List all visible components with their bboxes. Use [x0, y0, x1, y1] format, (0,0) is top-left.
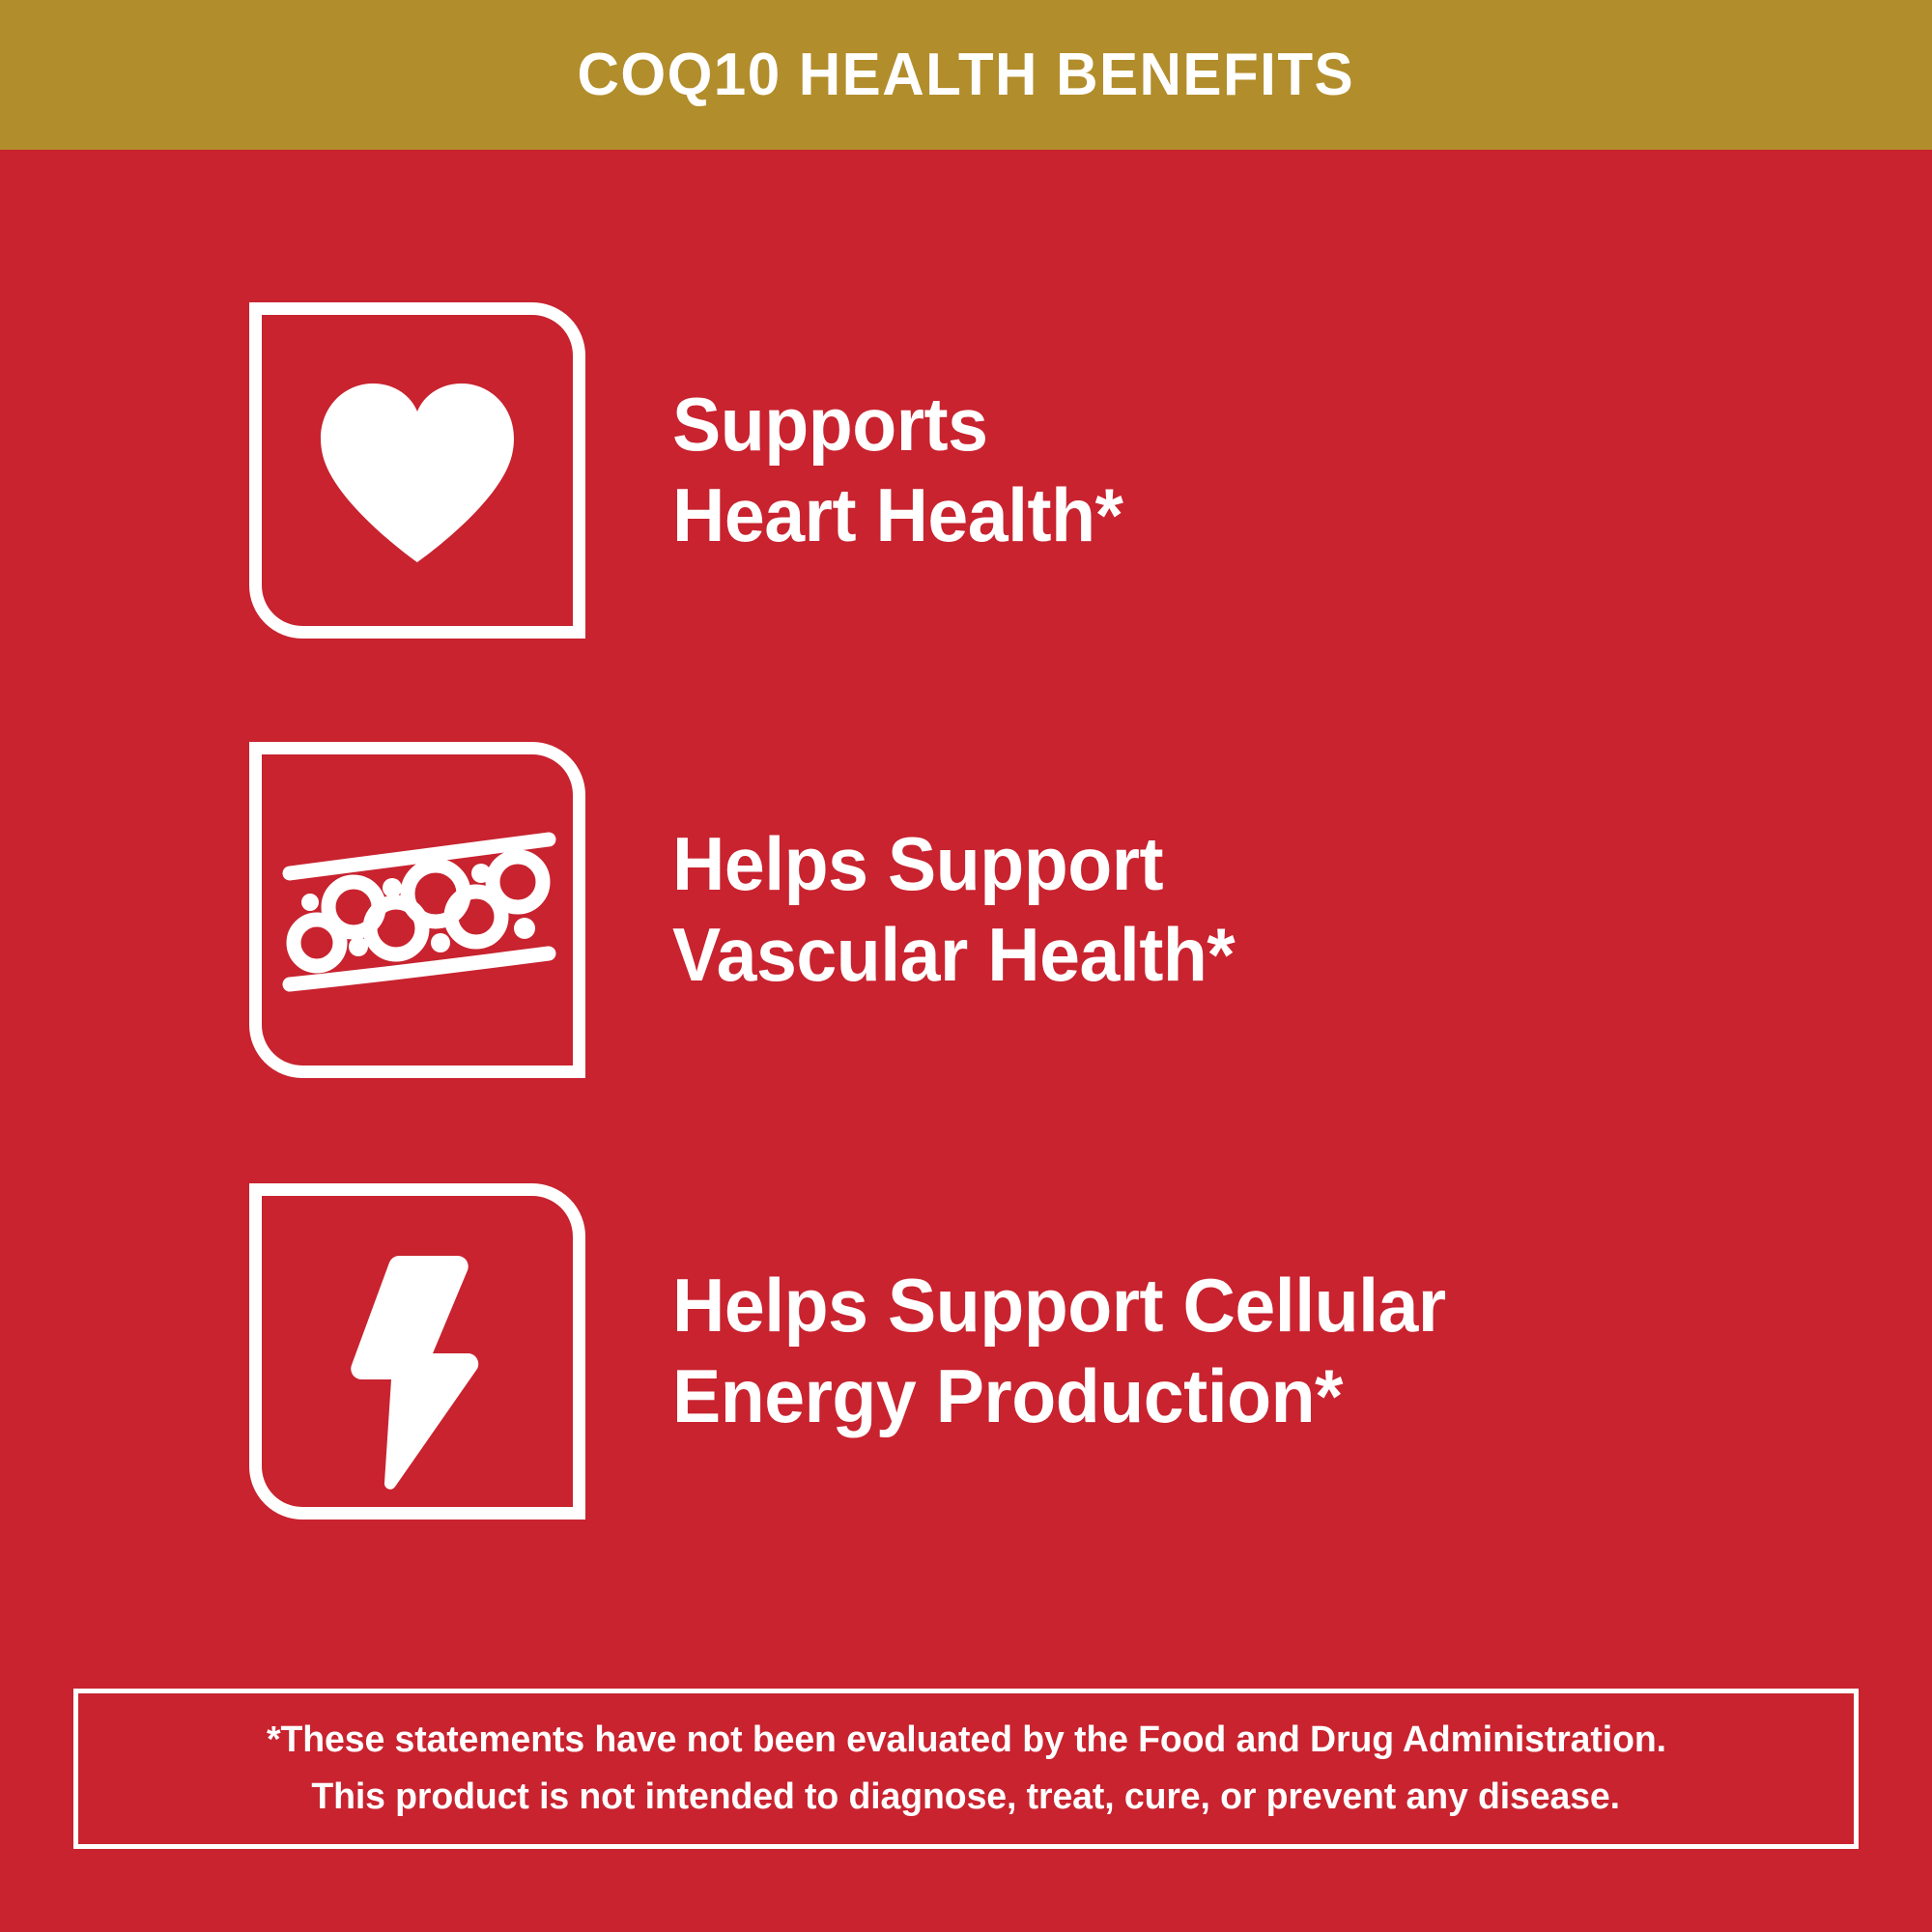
benefit-label-cellular-energy: Helps Support Cellular Energy Production… [672, 1261, 1446, 1441]
icon-container-vascular [249, 742, 597, 1078]
disclaimer-line-2: This product is not intended to diagnose… [312, 1769, 1621, 1826]
benefit-label-heart-health: Supports Heart Health* [672, 380, 1122, 560]
header-band: COQ10 HEALTH BENEFITS [0, 0, 1932, 150]
disclaimer-line-1: *These statements have not been evaluate… [267, 1712, 1666, 1769]
benefit-item-heart-health: Supports Heart Health* [0, 302, 1932, 639]
benefit-item-cellular-energy: Helps Support Cellular Energy Production… [0, 1183, 1932, 1520]
benefit-label-vascular-health: Helps Support Vascular Health* [672, 819, 1235, 1000]
page-title: COQ10 HEALTH BENEFITS [578, 45, 1355, 105]
benefit-item-vascular-health: Helps Support Vascular Health* [0, 742, 1932, 1078]
blood-vessel-icon [249, 742, 585, 1078]
icon-container-heart [249, 302, 597, 639]
disclaimer-box: *These statements have not been evaluate… [73, 1689, 1859, 1849]
coq10-health-benefits-infographic: COQ10 HEALTH BENEFITS Supports Heart Hea… [0, 0, 1932, 1932]
lightning-bolt-icon [249, 1183, 585, 1520]
heart-icon [249, 302, 585, 639]
icon-container-energy [249, 1183, 597, 1520]
